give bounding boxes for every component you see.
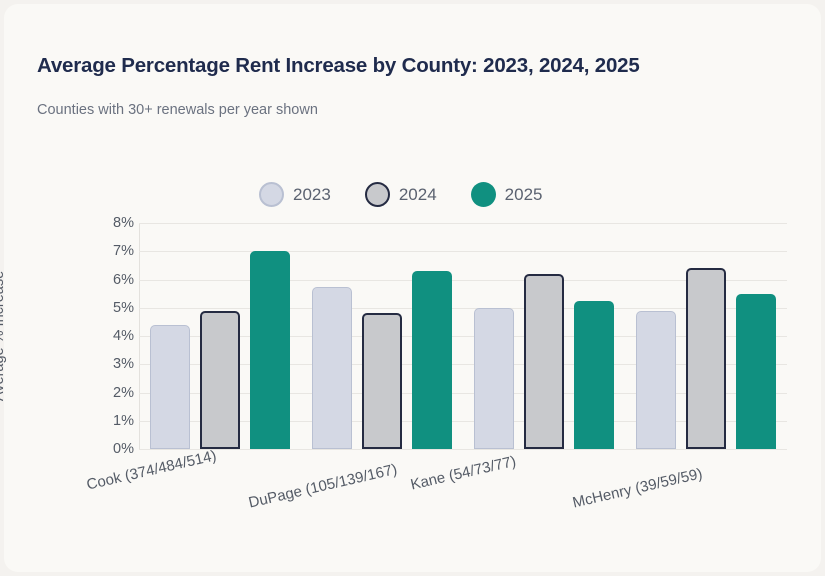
bar-group bbox=[625, 223, 787, 449]
legend-label-2023: 2023 bbox=[293, 185, 331, 205]
y-axis-tick-label: 4% bbox=[113, 328, 134, 344]
bar-group bbox=[139, 223, 301, 449]
page-title: Average Percentage Rent Increase by Coun… bbox=[37, 54, 640, 78]
legend-label-2024: 2024 bbox=[399, 185, 437, 205]
y-axis-tick-label: 3% bbox=[113, 356, 134, 372]
legend-swatch-2025 bbox=[471, 182, 496, 207]
y-axis-ticks: 0%1%2%3%4%5%6%7%8% bbox=[92, 223, 134, 449]
bar-group bbox=[301, 223, 463, 449]
bar-2023[interactable] bbox=[474, 308, 514, 449]
bar-group bbox=[463, 223, 625, 449]
x-axis-tick-label: McHenry (39/59/59) bbox=[571, 465, 704, 511]
y-axis-tick-label: 2% bbox=[113, 385, 134, 401]
bar-2024[interactable] bbox=[362, 313, 402, 449]
legend-swatch-2023 bbox=[259, 182, 284, 207]
y-axis-tick-label: 7% bbox=[113, 243, 134, 259]
x-axis-tick-label: Cook (374/484/514) bbox=[85, 447, 218, 493]
bar-2025[interactable] bbox=[574, 301, 614, 449]
y-axis-tick-label: 0% bbox=[113, 441, 134, 457]
legend-label-2025: 2025 bbox=[505, 185, 543, 205]
y-axis-tick-label: 5% bbox=[113, 300, 134, 316]
y-axis-title: Average % Increase bbox=[0, 236, 7, 436]
bar-2025[interactable] bbox=[736, 294, 776, 449]
x-axis-tick-label: DuPage (105/139/167) bbox=[247, 461, 399, 512]
legend-item-2023[interactable]: 2023 bbox=[259, 182, 331, 207]
bar-2024[interactable] bbox=[200, 311, 240, 449]
plot-area bbox=[139, 223, 787, 449]
chart-card: Average Percentage Rent Increase by Coun… bbox=[4, 4, 821, 572]
chart-subtitle: Counties with 30+ renewals per year show… bbox=[37, 102, 318, 118]
chart-legend: 2023 2024 2025 bbox=[259, 182, 542, 207]
legend-item-2024[interactable]: 2024 bbox=[365, 182, 437, 207]
gridline bbox=[139, 449, 787, 450]
y-axis-tick-label: 8% bbox=[113, 215, 134, 231]
bar-2024[interactable] bbox=[524, 274, 564, 449]
bar-2023[interactable] bbox=[312, 287, 352, 449]
bar-2025[interactable] bbox=[412, 271, 452, 449]
legend-swatch-2024 bbox=[365, 182, 390, 207]
y-axis-tick-label: 6% bbox=[113, 272, 134, 288]
bar-2023[interactable] bbox=[150, 325, 190, 449]
bar-2025[interactable] bbox=[250, 251, 290, 449]
bar-2023[interactable] bbox=[636, 311, 676, 449]
y-axis-tick-label: 1% bbox=[113, 413, 134, 429]
x-axis-tick-label: Kane (54/73/77) bbox=[409, 453, 518, 494]
bar-2024[interactable] bbox=[686, 268, 726, 449]
legend-item-2025[interactable]: 2025 bbox=[471, 182, 543, 207]
